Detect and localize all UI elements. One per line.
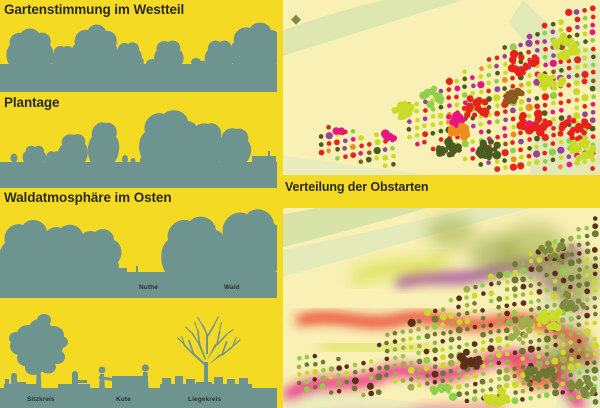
right-column-maps: Verteilung der Obstarten <box>283 0 600 408</box>
left-column-sections: Gartenstimmung im Westteil <box>0 0 277 408</box>
panel-aufenthaltsorte: Sitzkreis Kute Liegekreis <box>0 300 277 408</box>
panel-waldatmosphaere: Waldatmosphäre im Osten <box>0 188 277 300</box>
silhouette-plantage <box>0 92 277 188</box>
ground-label-kute: Kute <box>116 396 131 403</box>
ground-label-liegekreis: Liegekreis <box>188 396 221 403</box>
bare-tree <box>177 316 241 390</box>
ground-label-nuthe: Nuthe <box>139 284 158 291</box>
map-band-title: Verteilung der Obstarten <box>285 180 428 194</box>
map-verteilung-der-obstarten <box>283 0 600 175</box>
map-wegefuehrung <box>283 208 600 408</box>
ground-label-wald: Wald <box>224 284 240 291</box>
silhouette-aufenthaltsorte <box>0 300 277 408</box>
panel-westteil: Gartenstimmung im Westteil <box>0 0 277 92</box>
dot-layer-bottom <box>283 208 600 408</box>
panel-plantage: Plantage <box>0 92 277 188</box>
ground-label-sitzkreis: Sitzkreis <box>27 396 55 403</box>
infographic-poster: Gartenstimmung im Westteil <box>0 0 600 408</box>
silhouette-westteil <box>0 0 277 92</box>
dot-layer-top <box>283 0 600 175</box>
